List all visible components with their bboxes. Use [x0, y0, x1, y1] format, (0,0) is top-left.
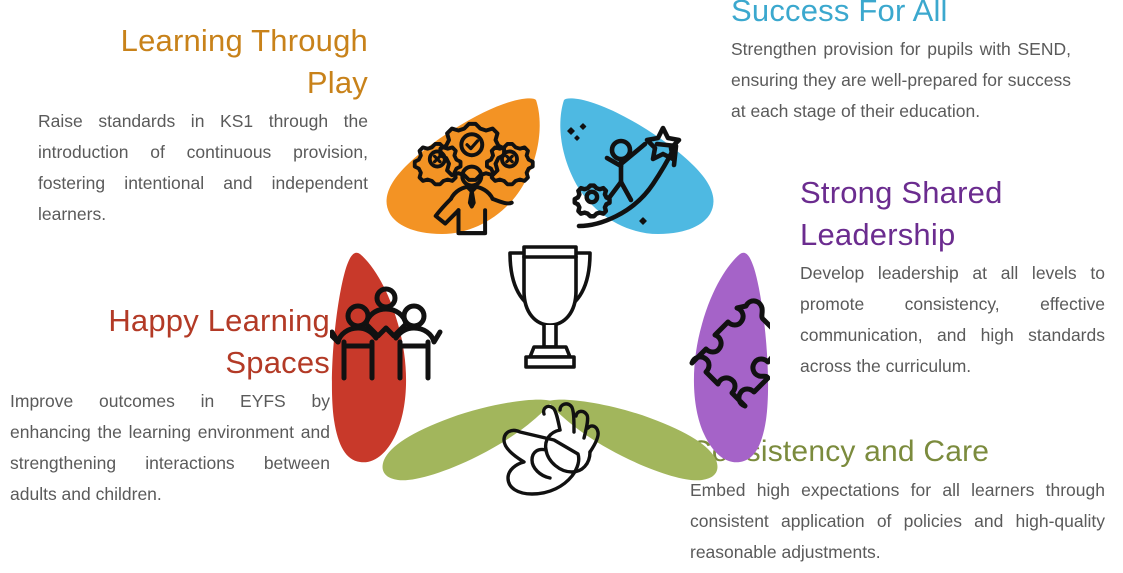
priority-heading-learning-through-play: Learning Through Play — [38, 20, 368, 104]
petal-success-for-all[interactable] — [560, 98, 713, 234]
priority-heading-success-for-all: Success For All — [731, 0, 1071, 32]
priority-block-success-for-all: Success For All Strengthen provision for… — [731, 0, 1071, 127]
priority-block-happy-learning-spaces: Happy Learning Spaces Improve outcomes i… — [10, 300, 330, 510]
priority-body-strong-shared-leadership: Develop leadership at all levels to prom… — [800, 258, 1105, 383]
infographic-page: Learning Through Play Raise standards in… — [0, 0, 1123, 573]
petal-wheel-diagram — [330, 88, 770, 508]
trophy-icon — [510, 247, 590, 367]
priority-heading-strong-shared-leadership: Strong Shared Leadership — [800, 172, 1105, 256]
petal-learning-through-play[interactable] — [387, 98, 540, 234]
priority-block-learning-through-play: Learning Through Play Raise standards in… — [38, 20, 368, 230]
petal-consistency-and-care[interactable] — [383, 400, 718, 494]
priority-body-success-for-all: Strengthen provision for pupils with SEN… — [731, 34, 1071, 127]
petal-strong-shared-leadership[interactable] — [692, 253, 770, 463]
priority-body-learning-through-play: Raise standards in KS1 through the intro… — [38, 106, 368, 231]
priority-heading-happy-learning-spaces: Happy Learning Spaces — [10, 300, 330, 384]
priority-block-strong-shared-leadership: Strong Shared Leadership Develop leaders… — [800, 172, 1105, 382]
priority-body-happy-learning-spaces: Improve outcomes in EYFS by enhancing th… — [10, 386, 330, 511]
